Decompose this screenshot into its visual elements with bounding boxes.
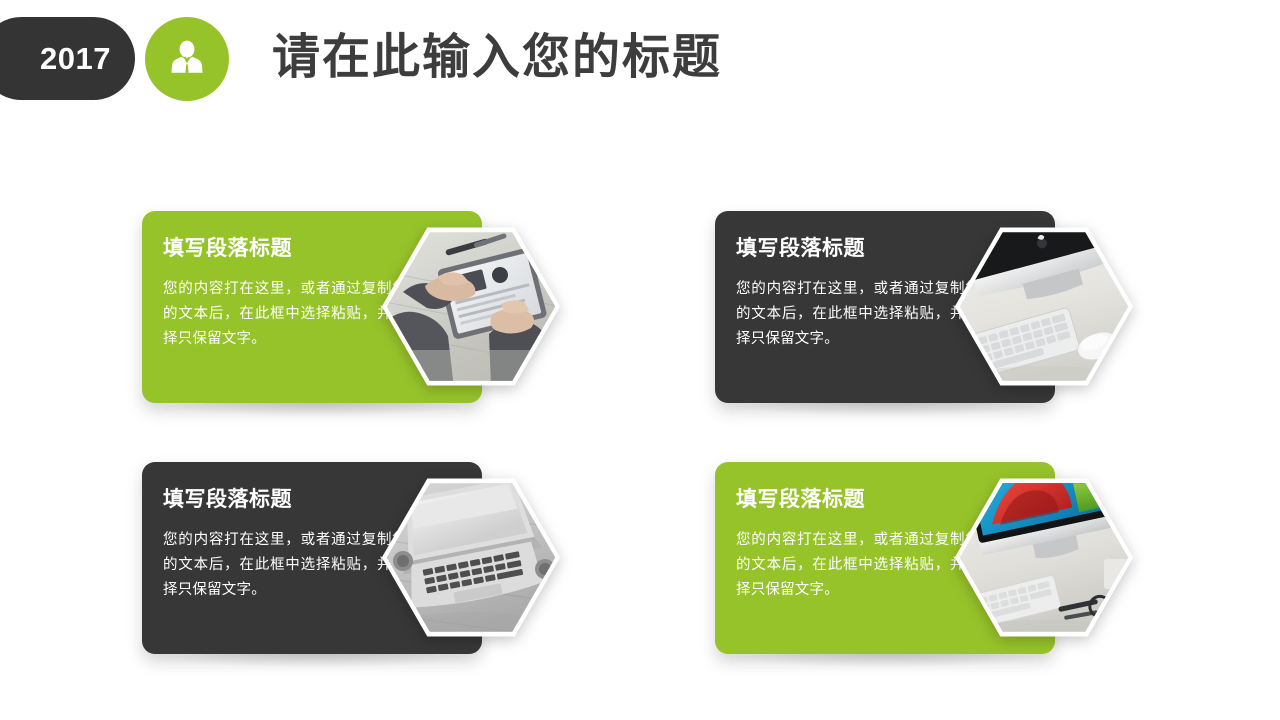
card-hex-image-holder <box>380 225 562 388</box>
card-body-text: 您的内容打在这里，或者通过复制您的文本后，在此框中选择粘贴，并选择只保留文字。 <box>163 277 407 352</box>
card-title: 填写段落标题 <box>736 236 865 261</box>
card-bottom-left[interactable]: 填写段落标题 您的内容打在这里，或者通过复制您的文本后，在此框中选择粘贴，并选择… <box>142 462 542 654</box>
card-bottom-right[interactable]: 填写段落标题 您的内容打在这里，或者通过复制您的文本后，在此框中选择粘贴，并选择… <box>715 462 1115 654</box>
card-ground-shadow <box>727 401 1047 417</box>
card-hex-image-holder <box>953 476 1135 639</box>
card-title: 填写段落标题 <box>163 487 292 512</box>
card-top-left[interactable]: 填写段落标题 您的内容打在这里，或者通过复制您的文本后，在此框中选择粘贴，并选择… <box>142 211 542 403</box>
tablet-on-desk-photo <box>385 230 557 383</box>
imac-colorful-screen-photo <box>958 481 1130 634</box>
card-ground-shadow <box>154 652 474 668</box>
card-body-text: 您的内容打在这里，或者通过复制您的文本后，在此框中选择粘贴，并选择只保留文字。 <box>736 528 980 603</box>
card-ground-shadow <box>154 401 474 417</box>
card-ground-shadow <box>727 652 1047 668</box>
imac-keyboard-mouse-photo <box>958 230 1130 383</box>
card-hex-image-holder <box>953 225 1135 388</box>
card-hex-image-holder <box>380 476 562 639</box>
card-body-text: 您的内容打在这里，或者通过复制您的文本后，在此框中选择粘贴，并选择只保留文字。 <box>736 277 980 352</box>
card-title: 填写段落标题 <box>736 487 865 512</box>
card-body-text: 您的内容打在这里，或者通过复制您的文本后，在此框中选择粘贴，并选择只保留文字。 <box>163 528 407 603</box>
card-top-right[interactable]: 填写段落标题 您的内容打在这里，或者通过复制您的文本后，在此框中选择粘贴，并选择… <box>715 211 1115 403</box>
card-title: 填写段落标题 <box>163 236 292 261</box>
slide-canvas: 2017 请在此输入您的标题 填写段落标题 您的内容打在这里，或者通过复制您的文… <box>0 0 1280 720</box>
cards-grid: 填写段落标题 您的内容打在这里，或者通过复制您的文本后，在此框中选择粘贴，并选择… <box>0 0 1280 720</box>
laptop-grayscale-photo <box>385 481 557 634</box>
